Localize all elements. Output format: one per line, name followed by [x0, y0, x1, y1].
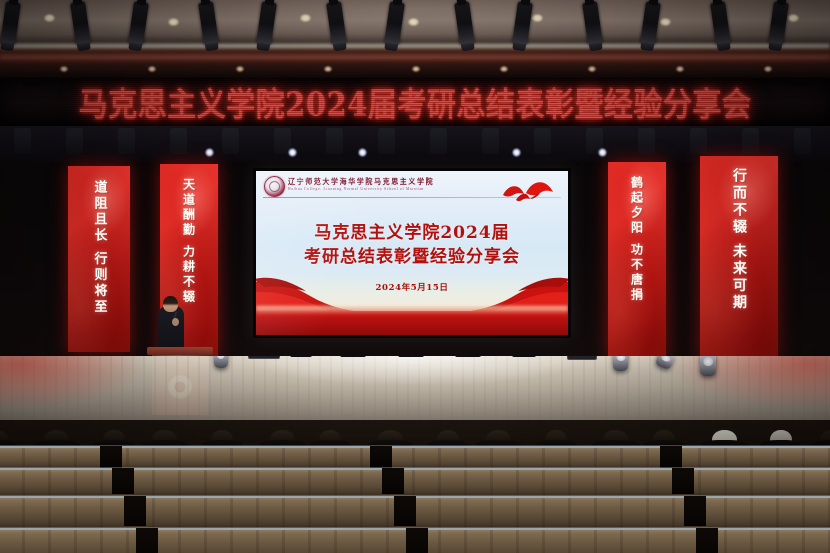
audience-seating-area [0, 420, 830, 553]
moving-head-light-right [700, 356, 716, 376]
truss-spotlight [690, 128, 707, 154]
ceiling-downlight-lower [324, 66, 332, 72]
moving-head-light-center [613, 356, 628, 371]
truss-spotlight [638, 128, 655, 154]
pillar-far-right-text: 行而不辍 未来可期 [729, 168, 749, 312]
ceiling [0, 0, 830, 78]
spotlight-beam [288, 148, 297, 157]
spotlight-beam [358, 148, 367, 157]
ceiling-downlight-lower [764, 66, 772, 72]
spotlight-beam [598, 148, 607, 157]
ceiling-downlight [300, 14, 311, 22]
floor-highlight [250, 356, 580, 396]
seat-aisle-gap [684, 496, 706, 526]
seat-aisle-gap [136, 528, 158, 553]
stage-equipment-case-left [248, 356, 280, 359]
ceiling-downlight [44, 14, 55, 22]
ceiling-cove-light-secondary [0, 56, 830, 59]
seat-aisle-gap [696, 528, 718, 553]
podium-top [147, 347, 213, 355]
moving-head-light-left [214, 356, 228, 368]
speaker-head [163, 296, 178, 312]
seat-aisle-gap [112, 468, 134, 494]
seat-aisle-gap [660, 446, 682, 468]
seat-aisle-gap [672, 468, 694, 494]
slide-title: 马克思主义学院2024届 考研总结表彰暨经验分享会 [256, 221, 568, 269]
truss-spotlight [378, 128, 395, 154]
dove-icon-tiny [516, 193, 530, 203]
university-logo-icon [264, 176, 285, 197]
ceiling-downlight-lower [236, 66, 244, 72]
truss-spotlight [430, 128, 447, 154]
ceiling-downlight-lower [148, 66, 156, 72]
doves-graphic [500, 179, 554, 207]
truss-spotlight [170, 128, 187, 154]
pillar-right: 鹤起夕阳 功不唐捐 [608, 162, 666, 358]
truss-spotlight [534, 128, 551, 154]
seat-aisle-gap [406, 528, 428, 553]
ceiling-downlight [408, 18, 419, 26]
ceiling-downlight [788, 14, 799, 22]
ceiling-downlight-lower [60, 66, 68, 72]
ceiling-downlight-lower [412, 66, 420, 72]
truss-spotlight [326, 128, 343, 154]
seat-aisle-gap [382, 468, 404, 494]
stage-equipment-case-right [567, 356, 597, 360]
ceiling-downlight-lower [500, 66, 508, 72]
pillar-right-text: 鹤起夕阳 功不唐捐 [629, 176, 646, 303]
ceiling-downlight-lower [588, 66, 596, 72]
pillar-far-right: 行而不辍 未来可期 [700, 156, 778, 360]
banner-text: 马克思主义学院2024届考研总结表彰暨经验分享会 [79, 78, 752, 125]
seat-aisle-gap [100, 446, 122, 468]
ceiling-downlight [660, 18, 671, 26]
spotlight-beam [205, 148, 214, 157]
spotlight-beam [512, 148, 521, 157]
ceiling-downlight-lower [676, 66, 684, 72]
seat-aisle-gap [394, 496, 416, 526]
seat-aisle-gap [370, 446, 392, 468]
stage-monitor-5 [512, 356, 536, 357]
pillar-left-text: 天道酬勤 力耕不辍 [181, 178, 198, 305]
slide-title-line1: 马克思主义学院2024届 [256, 221, 568, 245]
stage-monitor-4 [455, 356, 481, 357]
projection-screen: 辽宁师范大学海华学院马克思主义学院 Haihua College, Liaoni… [253, 168, 571, 338]
truss-spotlight [482, 128, 499, 154]
truss-spotlight [742, 128, 759, 154]
truss-spotlight [794, 128, 811, 154]
stage-monitor-2 [340, 356, 366, 357]
ceiling-downlight [532, 14, 543, 22]
ceiling-cove-light [0, 44, 830, 49]
seat-aisle-gap [124, 496, 146, 526]
slide-org-name-cn: 辽宁师范大学海华学院马克思主义学院 [288, 177, 434, 188]
stage-monitor-1 [290, 356, 312, 357]
speaker-hand [172, 318, 179, 326]
led-headline-banner: 马克思主义学院2024届考研总结表彰暨经验分享会 [0, 78, 830, 126]
pillar-far-left-text: 道阻且长 行则将至 [90, 180, 109, 316]
truss-spotlight [66, 128, 83, 154]
seat-row [0, 446, 830, 470]
presentation-slide: 辽宁师范大学海华学院马克思主义学院 Haihua College, Liaoni… [256, 171, 568, 335]
slide-red-base [256, 311, 568, 335]
truss-spotlight [14, 128, 31, 154]
conference-hall-photo: 马克思主义学院2024届考研总结表彰暨经验分享会 道阻且长 行则将至 天道酬勤 … [0, 0, 830, 553]
truss-spotlight [222, 128, 239, 154]
pillar-far-left: 道阻且长 行则将至 [68, 166, 130, 352]
truss-spotlight [118, 128, 135, 154]
stage-monitor-3 [398, 356, 424, 357]
slide-org-name-en: Haihua College, Liaoning Normal Universi… [288, 187, 424, 191]
slide-title-line2: 考研总结表彰暨经验分享会 [256, 245, 568, 269]
ceiling-downlight [168, 18, 179, 26]
